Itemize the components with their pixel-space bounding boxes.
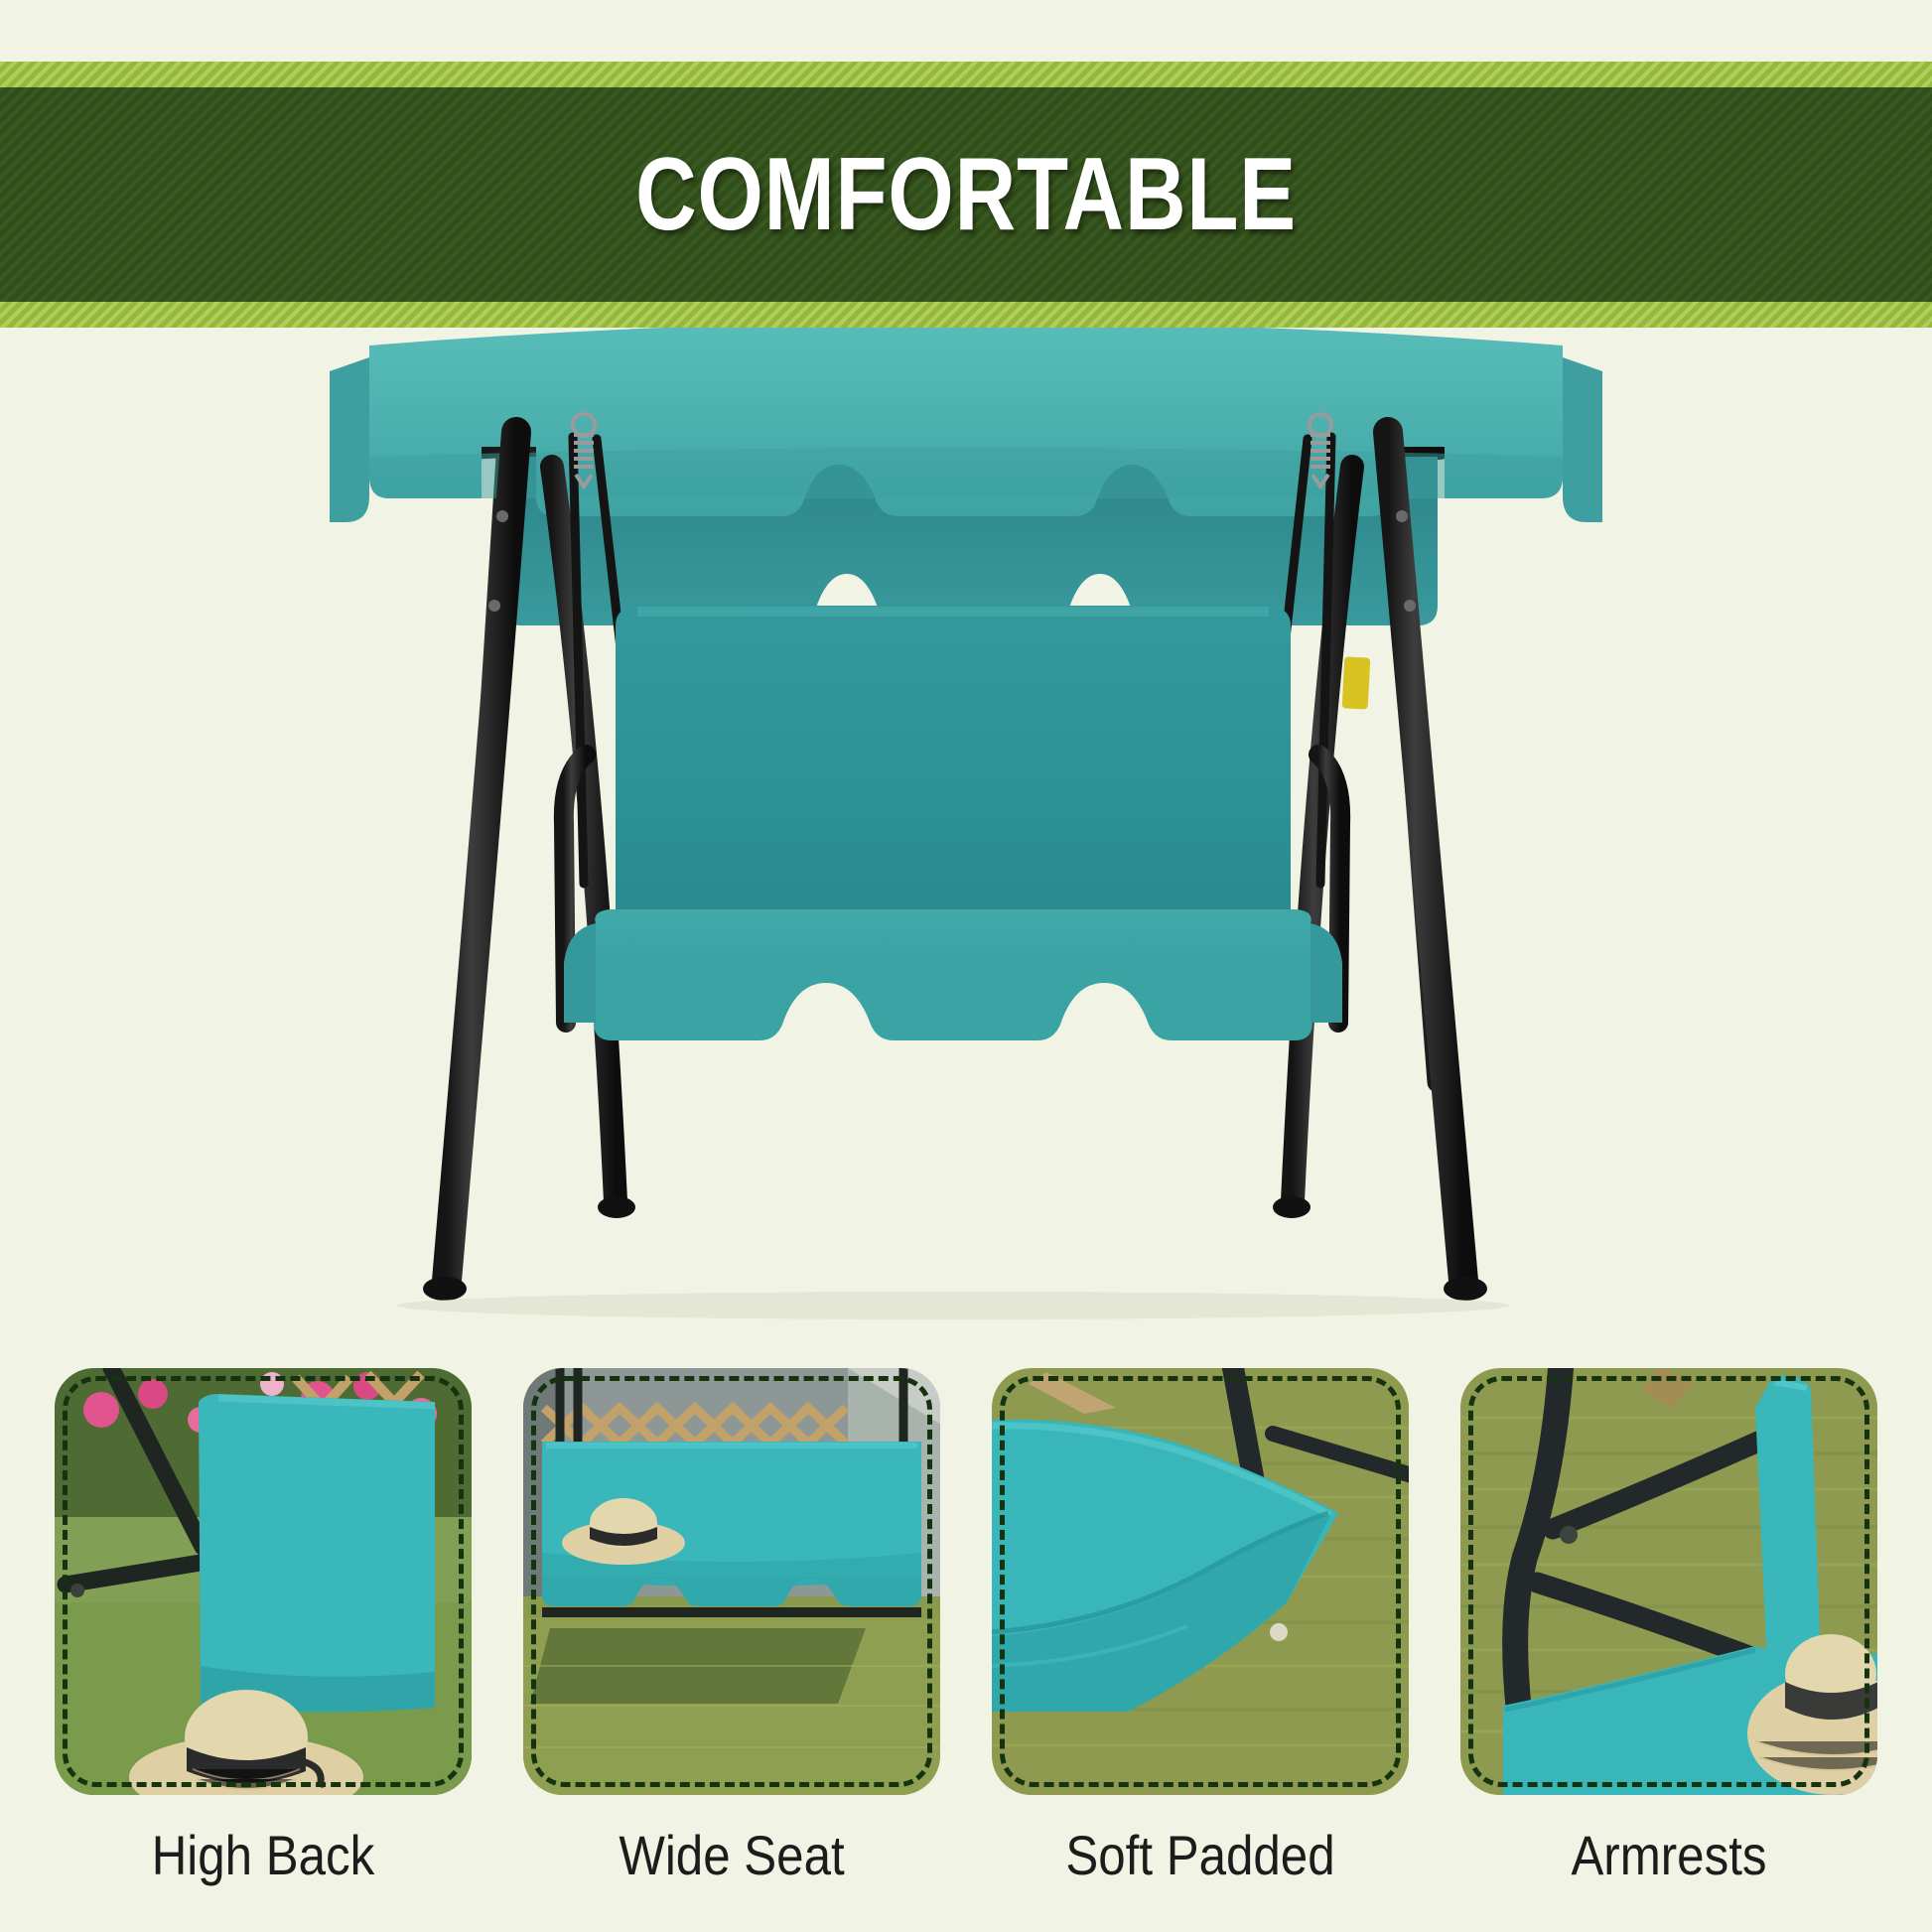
caption-high-back: High Back xyxy=(79,1825,447,1886)
warning-label-sticker xyxy=(1342,656,1371,709)
feature-thumbnail-high-back[interactable] xyxy=(55,1368,472,1795)
banner-top-stripe xyxy=(0,62,1932,87)
caption-wide-seat: Wide Seat xyxy=(548,1825,915,1886)
banner-bottom-stripe xyxy=(0,302,1932,328)
canopy-left-tab xyxy=(330,357,369,522)
seat-cushion xyxy=(595,909,1311,983)
caption-soft-padded: Soft Padded xyxy=(1017,1825,1384,1886)
hero-product-image xyxy=(0,328,1932,1355)
feature-captions-row: High Back Wide Seat Soft Padded Armrests xyxy=(55,1825,1877,1886)
seat-skirt xyxy=(594,973,1312,1040)
swing-chair-illustration xyxy=(0,328,1932,1355)
thumbnail-image-soft-padded xyxy=(992,1368,1409,1795)
feature-thumbnail-wide-seat[interactable] xyxy=(523,1368,940,1795)
back-cushion xyxy=(616,606,1291,933)
ground-shadow xyxy=(397,1292,1509,1319)
thumbnail-image-high-back xyxy=(55,1368,472,1795)
caption-armrests: Armrests xyxy=(1485,1825,1853,1886)
thumbnail-image-armrests xyxy=(1460,1368,1877,1795)
thumbnail-image-wide-seat xyxy=(523,1368,940,1795)
page-title: COMFORTABLE xyxy=(635,143,1297,246)
feature-thumbnail-armrests[interactable] xyxy=(1460,1368,1877,1795)
feature-thumbnail-soft-padded[interactable] xyxy=(992,1368,1409,1795)
canopy-right-tab xyxy=(1563,357,1602,522)
header-banner: COMFORTABLE xyxy=(0,62,1932,328)
feature-thumbnail-strip xyxy=(55,1368,1877,1795)
